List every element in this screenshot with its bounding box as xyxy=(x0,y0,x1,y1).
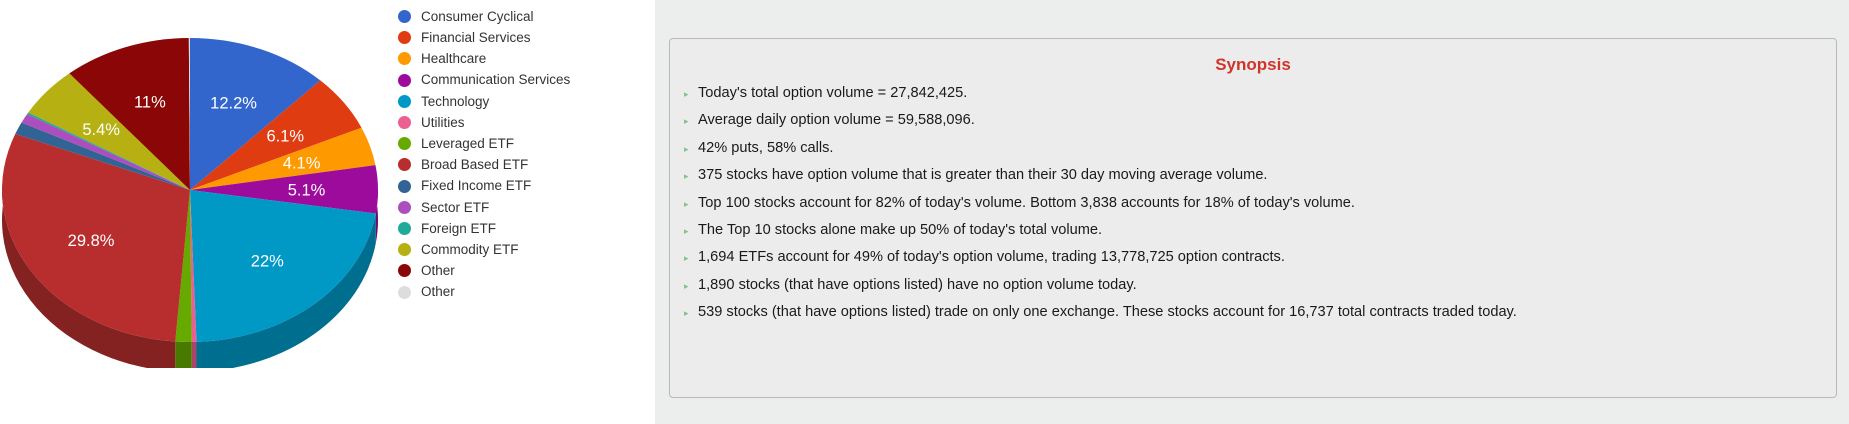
bullet-triangle-icon: ▸ xyxy=(684,117,698,126)
legend-label: Broad Based ETF xyxy=(421,158,528,172)
synopsis-text: Top 100 stocks account for 82% of today'… xyxy=(698,195,1355,213)
bullet-triangle-icon: ▸ xyxy=(684,282,698,291)
legend-item[interactable]: Technology xyxy=(398,91,648,112)
legend-swatch-technology xyxy=(398,95,411,108)
bullet-triangle-icon: ▸ xyxy=(684,254,698,263)
legend-swatch-other-light xyxy=(398,286,411,299)
legend-swatch-broad-based-etf xyxy=(398,158,411,171)
bullet-triangle-icon: ▸ xyxy=(684,172,698,181)
pie-slice-depth xyxy=(175,342,192,368)
legend-label: Financial Services xyxy=(421,31,531,45)
synopsis-item: ▸ Average daily option volume = 59,588,0… xyxy=(684,112,1836,139)
legend-label: Commodity ETF xyxy=(421,243,519,257)
pie-chart: 12.2%6.1%4.1%5.1%22%29.8%5.4%11% xyxy=(0,0,390,424)
synopsis-text: 1,890 stocks (that have options listed) … xyxy=(698,277,1137,295)
pie-slice-label: 11% xyxy=(134,94,166,112)
legend-swatch-other-dark xyxy=(398,264,411,277)
legend-item[interactable]: Commodity ETF xyxy=(398,239,648,260)
legend-swatch-fixed-income-etf xyxy=(398,180,411,193)
synopsis-pane: Synopsis ▸ Today's total option volume =… xyxy=(655,0,1849,424)
legend-swatch-consumer-cyclical xyxy=(398,10,411,23)
legend-swatch-foreign-etf xyxy=(398,222,411,235)
legend-item[interactable]: Other xyxy=(398,281,648,302)
synopsis-panel: Synopsis ▸ Today's total option volume =… xyxy=(669,38,1837,398)
pie-slice-label: 29.8% xyxy=(68,232,115,250)
legend-item[interactable]: Leveraged ETF xyxy=(398,133,648,154)
chart-legend: Consumer Cyclical Financial Services Hea… xyxy=(398,6,648,303)
legend-label: Foreign ETF xyxy=(421,222,496,236)
legend-label: Sector ETF xyxy=(421,201,489,215)
synopsis-text: Average daily option volume = 59,588,096… xyxy=(698,112,975,130)
legend-swatch-sector-etf xyxy=(398,201,411,214)
bullet-triangle-icon: ▸ xyxy=(684,309,698,318)
synopsis-text: 1,694 ETFs account for 49% of today's op… xyxy=(698,249,1285,267)
bullet-triangle-icon: ▸ xyxy=(684,227,698,236)
legend-label: Communication Services xyxy=(421,73,570,87)
pie-slice-label: 22% xyxy=(251,253,284,271)
pie-chart-svg: 12.2%6.1%4.1%5.1%22%29.8%5.4%11% xyxy=(0,8,394,368)
legend-swatch-financial-services xyxy=(398,31,411,44)
pie-slice-depth xyxy=(192,342,197,368)
legend-swatch-commodity-etf xyxy=(398,243,411,256)
legend-item[interactable]: Communication Services xyxy=(398,70,648,91)
synopsis-text: 42% puts, 58% calls. xyxy=(698,140,833,158)
chart-pane: 12.2%6.1%4.1%5.1%22%29.8%5.4%11% Consume… xyxy=(0,0,655,424)
legend-swatch-communication-services xyxy=(398,74,411,87)
legend-item[interactable]: Broad Based ETF xyxy=(398,154,648,175)
legend-item[interactable]: Healthcare xyxy=(398,48,648,69)
synopsis-item: ▸ 375 stocks have option volume that is … xyxy=(684,167,1836,194)
legend-item[interactable]: Consumer Cyclical xyxy=(398,6,648,27)
synopsis-list: ▸ Today's total option volume = 27,842,4… xyxy=(670,85,1836,332)
bullet-triangle-icon: ▸ xyxy=(684,145,698,154)
legend-item[interactable]: Sector ETF xyxy=(398,197,648,218)
legend-label: Other xyxy=(421,264,455,278)
pie-slice-label: 6.1% xyxy=(266,128,304,146)
legend-item[interactable]: Foreign ETF xyxy=(398,218,648,239)
legend-label: Leveraged ETF xyxy=(421,137,514,151)
legend-label: Technology xyxy=(421,95,489,109)
bullet-triangle-icon: ▸ xyxy=(684,200,698,209)
synopsis-text: Today's total option volume = 27,842,425… xyxy=(698,85,967,103)
pie-slice-label: 5.4% xyxy=(82,121,120,139)
pie-slice-label: 4.1% xyxy=(283,155,321,173)
synopsis-text: 539 stocks (that have options listed) tr… xyxy=(698,304,1517,322)
synopsis-item: ▸ 1,890 stocks (that have options listed… xyxy=(684,277,1836,304)
pie-slice-label: 12.2% xyxy=(210,95,257,113)
legend-swatch-utilities xyxy=(398,116,411,129)
legend-item[interactable]: Financial Services xyxy=(398,27,648,48)
synopsis-item: ▸ The Top 10 stocks alone make up 50% of… xyxy=(684,222,1836,249)
synopsis-title: Synopsis xyxy=(670,55,1836,75)
legend-label: Other xyxy=(421,285,455,299)
synopsis-item: ▸ 539 stocks (that have options listed) … xyxy=(684,304,1836,331)
synopsis-item: ▸ 42% puts, 58% calls. xyxy=(684,140,1836,167)
legend-swatch-healthcare xyxy=(398,52,411,65)
synopsis-text: 375 stocks have option volume that is gr… xyxy=(698,167,1267,185)
synopsis-item: ▸ Top 100 stocks account for 82% of toda… xyxy=(684,195,1836,222)
legend-item[interactable]: Other xyxy=(398,260,648,281)
legend-item[interactable]: Fixed Income ETF xyxy=(398,176,648,197)
legend-label: Consumer Cyclical xyxy=(421,10,534,24)
legend-label: Fixed Income ETF xyxy=(421,179,531,193)
legend-label: Healthcare xyxy=(421,52,486,66)
legend-swatch-leveraged-etf xyxy=(398,137,411,150)
legend-item[interactable]: Utilities xyxy=(398,112,648,133)
bullet-triangle-icon: ▸ xyxy=(684,90,698,99)
pie-slice-label: 5.1% xyxy=(288,182,326,200)
legend-label: Utilities xyxy=(421,116,465,130)
synopsis-item: ▸ Today's total option volume = 27,842,4… xyxy=(684,85,1836,112)
page-root: 12.2%6.1%4.1%5.1%22%29.8%5.4%11% Consume… xyxy=(0,0,1849,424)
synopsis-text: The Top 10 stocks alone make up 50% of t… xyxy=(698,222,1102,240)
synopsis-item: ▸ 1,694 ETFs account for 49% of today's … xyxy=(684,249,1836,276)
